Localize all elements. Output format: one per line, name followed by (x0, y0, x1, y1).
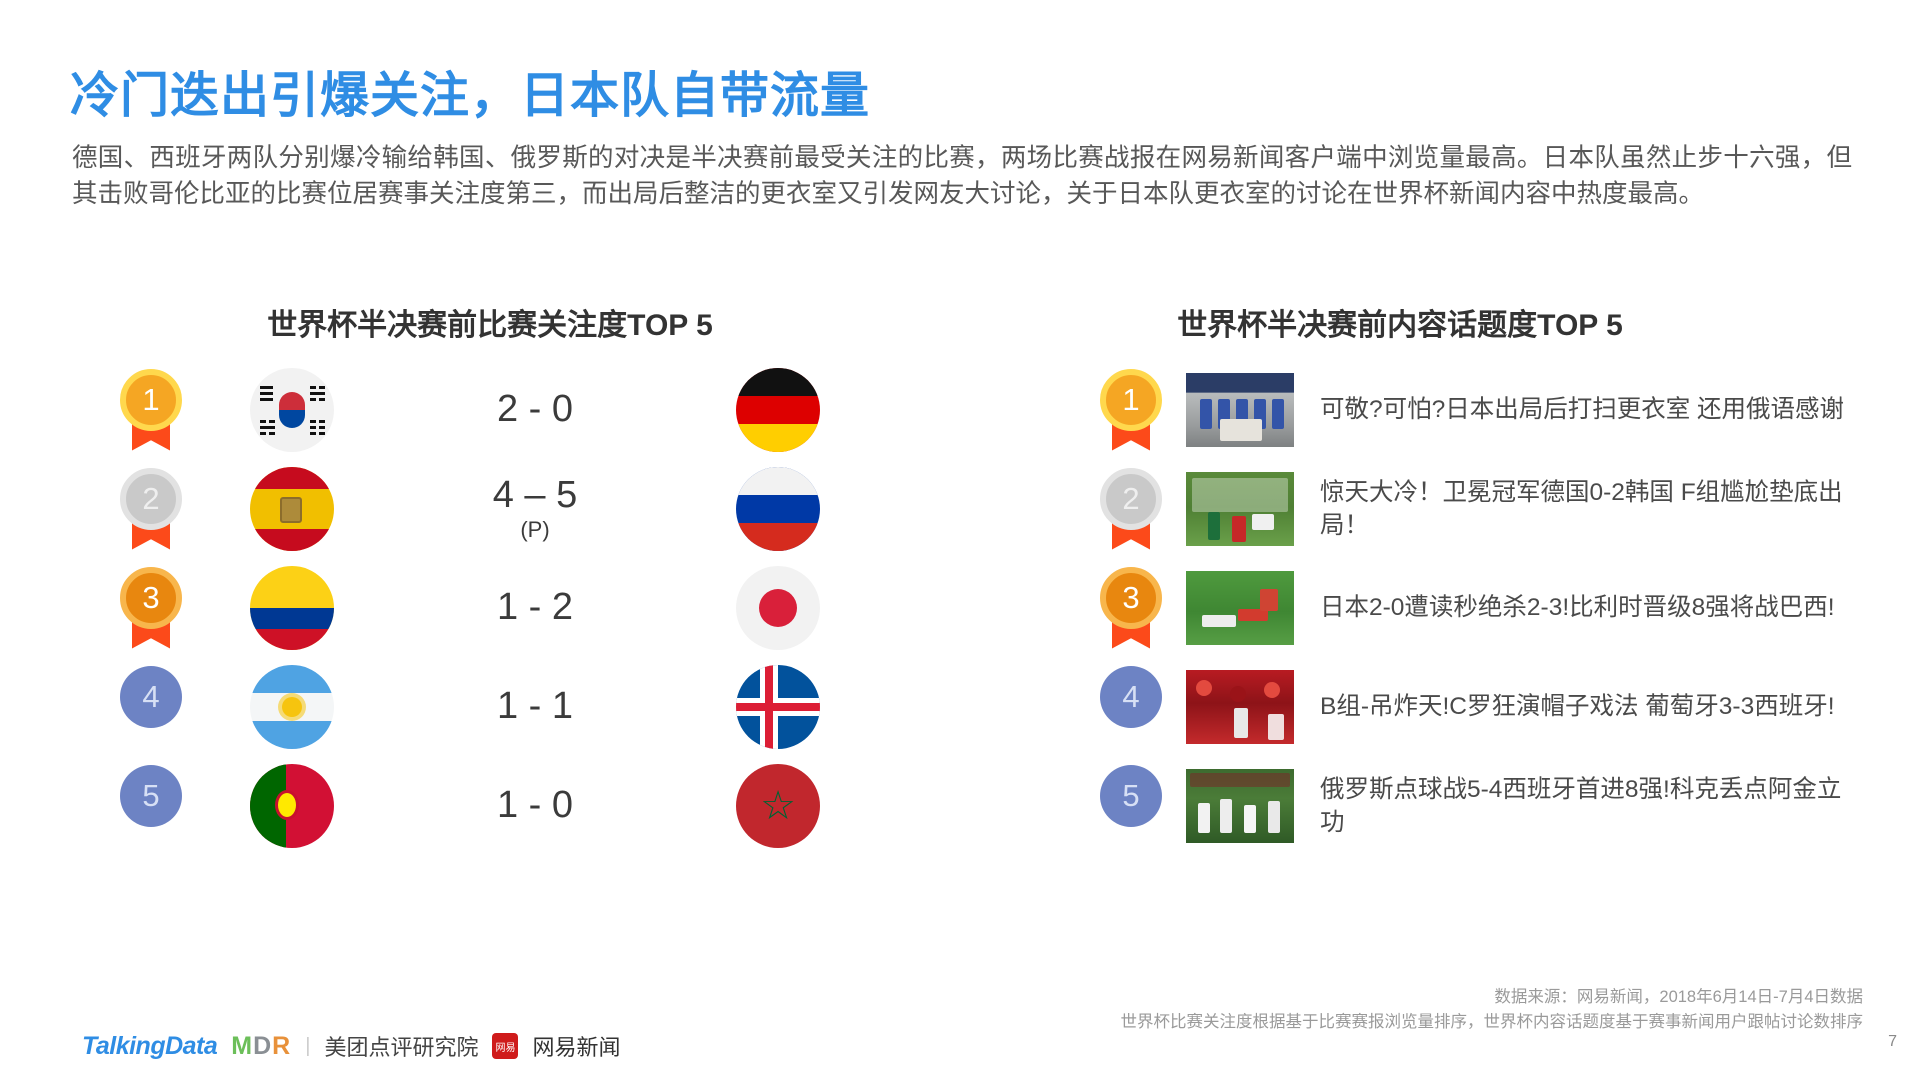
topic-headline: 可敬?可怕?日本出局后打扫更衣室 还用俄语感谢 (1320, 393, 1860, 426)
match-score: 4 – 5 (P) (334, 476, 736, 541)
topic-headline: 日本2-0遭读秒绝杀2-3!比利时晋级8强将战巴西! (1320, 591, 1860, 624)
flag-morocco-icon: ☆ (736, 764, 820, 848)
meituan-research-logo: 美团点评研究院 (324, 1030, 478, 1062)
rank-badge-4: 4 (1100, 666, 1164, 748)
rank-badge-3: 3 (1100, 567, 1164, 649)
rank-badge-5: 5 (120, 765, 184, 847)
rank-number: 4 (1100, 666, 1162, 728)
flag-germany-icon (736, 368, 820, 452)
brand-bar: TalkingData MDR | 美团点评研究院 网易 网易新闻 (82, 1030, 620, 1062)
right-panel-heading: 世界杯半决赛前内容话题度TOP 5 (1000, 300, 1800, 344)
match-row: 4 1 - 1 (120, 657, 820, 756)
match-row: 2 4 – 5 (P) (120, 459, 820, 558)
match-row: 1 2 - 0 (120, 360, 820, 459)
methodology-line: 世界杯比赛关注度根据基于比赛赛报浏览量排序，世界杯内容话题度基于赛事新闻用户跟帖… (1121, 1010, 1864, 1035)
goal-save-photo (1186, 472, 1294, 546)
rank-number: 5 (1100, 765, 1162, 827)
match-score: 1 - 1 (334, 687, 736, 727)
flag-argentina-icon (250, 665, 334, 749)
score-value: 4 – 5 (493, 474, 578, 516)
topic-headline: 惊天大冷！卫冕冠军德国0-2韩国 F组尴尬垫底出局！ (1320, 476, 1860, 542)
rank-number: 4 (120, 666, 182, 728)
page-number: 7 (1888, 1033, 1897, 1051)
celebration-photo (1186, 769, 1294, 843)
flag-korea-icon (250, 368, 334, 452)
penalty-note: (P) (334, 518, 736, 541)
match-row: 5 1 - 0 ☆ (120, 756, 820, 855)
topic-headline: 俄罗斯点球战5-4西班牙首进8强!科克丢点阿金立功 (1320, 773, 1860, 839)
locker-room-photo (1186, 373, 1294, 447)
flag-portugal-icon (250, 764, 334, 848)
match-ranking-list: 1 2 - 0 (120, 360, 820, 855)
flag-japan-icon (736, 566, 820, 650)
mdr-logo: MDR (231, 1032, 291, 1061)
footnote: 数据来源：网易新闻，2018年6月14日-7月4日数据 世界杯比赛关注度根据基于… (1121, 985, 1864, 1035)
data-source-line: 数据来源：网易新闻，2018年6月14日-7月4日数据 (1121, 985, 1864, 1010)
list-item: 2 惊天大冷！卫冕冠军德国0-2韩国 F组尴尬垫底出局！ (1100, 459, 1860, 558)
flag-spain-icon (250, 467, 334, 551)
list-item: 1 可敬?可怕?日本出局后打扫更衣室 还用俄语感谢 (1100, 360, 1860, 459)
talkingdata-logo: TalkingData (82, 1032, 217, 1061)
red-crowd-photo (1186, 670, 1294, 744)
list-item: 4 B组-吊炸天!C罗狂演帽子戏法 葡萄牙3-3西班牙! (1100, 657, 1860, 756)
intro-paragraph: 德国、西班牙两队分别爆冷输给韩国、俄罗斯的对决是半决赛前最受关注的比赛，两场比赛… (72, 140, 1852, 212)
match-row: 3 1 - 2 (120, 558, 820, 657)
topic-headline: B组-吊炸天!C罗狂演帽子戏法 葡萄牙3-3西班牙! (1320, 690, 1860, 723)
rank-badge-5: 5 (1100, 765, 1164, 847)
list-item: 3 日本2-0遭读秒绝杀2-3!比利时晋级8强将战巴西! (1100, 558, 1860, 657)
flag-iceland-icon (736, 665, 820, 749)
match-score: 1 - 2 (334, 588, 736, 628)
list-item: 5 俄罗斯点球战5-4西班牙首进8强!科克丢点阿金立功 (1100, 756, 1860, 855)
rank-number: 2 (120, 468, 182, 530)
match-score: 1 - 0 (334, 786, 736, 826)
rank-number: 5 (120, 765, 182, 827)
page-title: 冷门迭出引爆关注，日本队自带流量 (70, 56, 870, 127)
topic-ranking-list: 1 可敬?可怕?日本出局后打扫更衣室 还用俄语感谢 2 惊天大冷！卫冕冠军德国0… (1100, 360, 1860, 855)
brand-divider: | (305, 1035, 310, 1058)
flag-colombia-icon (250, 566, 334, 650)
rank-number: 3 (1100, 567, 1162, 629)
score-value: 2 - 0 (497, 388, 573, 430)
rank-badge-1: 1 (1100, 369, 1164, 451)
rank-number: 3 (120, 567, 182, 629)
score-value: 1 - 0 (497, 784, 573, 826)
rank-number: 1 (120, 369, 182, 431)
rank-badge-1: 1 (120, 369, 184, 451)
match-score: 2 - 0 (334, 390, 736, 430)
rank-badge-3: 3 (120, 567, 184, 649)
netease-news-logo: 网易新闻 (532, 1030, 620, 1062)
flag-russia-icon (736, 467, 820, 551)
rank-number: 1 (1100, 369, 1162, 431)
pitch-tackle-photo (1186, 571, 1294, 645)
rank-number: 2 (1100, 468, 1162, 530)
left-panel-heading: 世界杯半决赛前比赛关注度TOP 5 (160, 300, 820, 344)
rank-badge-2: 2 (1100, 468, 1164, 550)
score-value: 1 - 1 (497, 685, 573, 727)
rank-badge-4: 4 (120, 666, 184, 748)
rank-badge-2: 2 (120, 468, 184, 550)
netease-badge-icon: 网易 (492, 1033, 518, 1059)
score-value: 1 - 2 (497, 586, 573, 628)
